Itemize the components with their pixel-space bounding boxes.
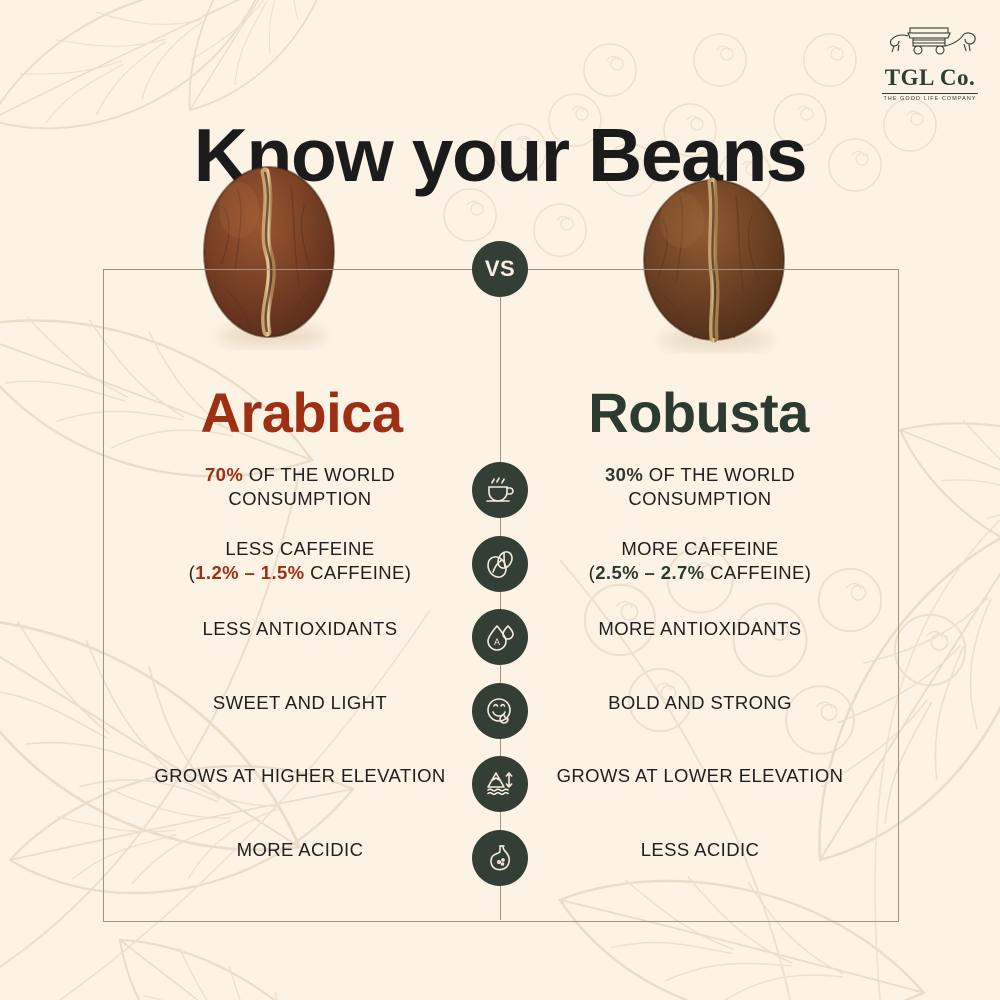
- arabica-taste-text: SWEET AND LIGHT: [213, 691, 387, 715]
- arabica-antioxidants-text: LESS ANTIOXIDANTS: [203, 617, 398, 641]
- smiley-taste-icon: [472, 683, 528, 739]
- logo-divider: [882, 93, 978, 94]
- svg-text:A: A: [494, 637, 500, 647]
- versus-badge: VS: [472, 241, 528, 297]
- brand-name: TGL Co.: [876, 66, 984, 89]
- robusta-caffeine-label: MORE CAFFEINE: [621, 537, 778, 561]
- table-row: MORE ACIDIC LESS ACIDIC: [103, 830, 897, 904]
- brand-logo: TGL Co. THE GOOD LIFE COMPANY: [876, 24, 984, 102]
- arabica-elevation-text: GROWS AT HIGHER ELEVATION: [154, 764, 445, 788]
- robusta-consumption-line2: CONSUMPTION: [628, 487, 771, 511]
- robusta-title: Robusta: [500, 385, 897, 441]
- coffee-beans-icon: [472, 536, 528, 592]
- coffee-cup-icon: [472, 462, 528, 518]
- robusta-caffeine-range: 2.5% – 2.7%: [595, 562, 704, 583]
- robusta-consumption-value: 30%: [605, 464, 643, 485]
- robusta-cell-acidity: LESS ACIDIC: [530, 830, 870, 904]
- robusta-consumption-text: OF THE WORLD: [643, 464, 795, 485]
- robusta-acidity-text: LESS ACIDIC: [641, 838, 760, 862]
- robusta-cell-consumption: 30% OF THE WORLD CONSUMPTION: [530, 462, 870, 536]
- arabica-consumption-value: 70%: [205, 464, 243, 485]
- arabica-cell-acidity: MORE ACIDIC: [130, 830, 470, 904]
- arabica-title: Arabica: [103, 385, 500, 441]
- brand-tagline: THE GOOD LIFE COMPANY: [876, 97, 984, 102]
- arabica-cell-antioxidants: LESS ANTIOXIDANTS: [130, 609, 470, 683]
- arabica-caffeine-label: LESS CAFFEINE: [225, 537, 374, 561]
- table-row: 70% OF THE WORLD CONSUMPTION 30% OF THE …: [103, 462, 897, 536]
- arabica-caffeine-range: 1.2% – 1.5%: [195, 562, 304, 583]
- antioxidant-drop-icon: A: [472, 609, 528, 665]
- stomach-acidity-icon: [472, 830, 528, 886]
- arabica-caffeine-suffix: CAFFEINE): [305, 562, 412, 583]
- arabica-cell-consumption: 70% OF THE WORLD CONSUMPTION: [130, 462, 470, 536]
- table-row: SWEET AND LIGHT BOLD AND STRONG: [103, 683, 897, 757]
- arabica-cell-taste: SWEET AND LIGHT: [130, 683, 470, 757]
- infographic-canvas: TGL Co. THE GOOD LIFE COMPANY Know your …: [0, 0, 1000, 1000]
- elevation-mountain-icon: [472, 756, 528, 812]
- table-row: LESS ANTIOXIDANTS A MORE ANTIOXIDANTS: [103, 609, 897, 683]
- robusta-cell-taste: BOLD AND STRONG: [530, 683, 870, 757]
- table-row: GROWS AT HIGHER ELEVATION GROWS AT LOWER…: [103, 756, 897, 830]
- robusta-taste-text: BOLD AND STRONG: [608, 691, 792, 715]
- robusta-elevation-text: GROWS AT LOWER ELEVATION: [557, 764, 844, 788]
- arabica-cell-caffeine: LESS CAFFEINE (1.2% – 1.5% CAFFEINE): [130, 536, 470, 610]
- robusta-caffeine-suffix: CAFFEINE): [705, 562, 812, 583]
- horse-cart-emblem-icon: [880, 24, 980, 60]
- arabica-consumption-line2: CONSUMPTION: [228, 487, 371, 511]
- robusta-cell-antioxidants: MORE ANTIOXIDANTS: [530, 609, 870, 683]
- comparison-rows: 70% OF THE WORLD CONSUMPTION 30% OF THE …: [103, 462, 897, 903]
- robusta-cell-caffeine: MORE CAFFEINE (2.5% – 2.7% CAFFEINE): [530, 536, 870, 610]
- arabica-acidity-text: MORE ACIDIC: [237, 838, 364, 862]
- table-row: LESS CAFFEINE (1.2% – 1.5% CAFFEINE) MOR…: [103, 536, 897, 610]
- page-title: Know your Beans: [0, 118, 1000, 193]
- arabica-consumption-text: OF THE WORLD: [243, 464, 395, 485]
- robusta-antioxidants-text: MORE ANTIOXIDANTS: [598, 617, 801, 641]
- robusta-cell-elevation: GROWS AT LOWER ELEVATION: [530, 756, 870, 830]
- arabica-cell-elevation: GROWS AT HIGHER ELEVATION: [130, 756, 470, 830]
